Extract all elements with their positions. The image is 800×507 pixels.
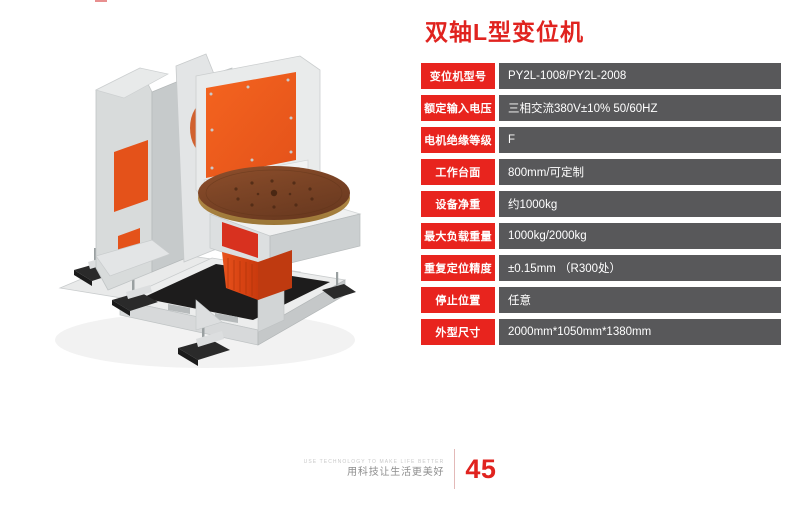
footer-inner: USE TECHNOLOGY TO MAKE LIFE BETTER 用科技让生…	[304, 449, 497, 489]
spec-value: 三相交流380V±10% 50/60HZ	[499, 95, 781, 121]
spec-label: 变位机型号	[421, 63, 495, 89]
table-row: 设备净重 约1000kg	[421, 191, 781, 217]
product-image	[0, 0, 415, 450]
tower-orange-panel-upper	[114, 140, 148, 212]
spec-value: 2000mm*1050mm*1380mm	[499, 319, 781, 345]
catalog-page: 双轴L型变位机 变位机型号 PY2L-1008/PY2L-2008 额定输入电压…	[0, 0, 800, 507]
spec-label: 设备净重	[421, 191, 495, 217]
spec-label: 电机绝缘等级	[421, 127, 495, 153]
table-row: 变位机型号 PY2L-1008/PY2L-2008	[421, 63, 781, 89]
page-title: 双轴L型变位机	[425, 20, 781, 45]
spec-value: PY2L-1008/PY2L-2008	[499, 63, 781, 89]
spec-value: F	[499, 127, 781, 153]
spec-value: 800mm/可定制	[499, 159, 781, 185]
spec-label: 外型尺寸	[421, 319, 495, 345]
head-orange-panel	[206, 72, 296, 178]
spec-label: 额定输入电压	[421, 95, 495, 121]
page-footer: USE TECHNOLOGY TO MAKE LIFE BETTER 用科技让生…	[0, 445, 800, 493]
table-row: 停止位置 任意	[421, 287, 781, 313]
spec-label: 工作台面	[421, 159, 495, 185]
spec-panel: 双轴L型变位机 变位机型号 PY2L-1008/PY2L-2008 额定输入电压…	[421, 20, 781, 345]
spec-label: 最大负载重量	[421, 223, 495, 249]
spec-value: ±0.15mm （R300处）	[499, 255, 781, 281]
page-number: 45	[465, 456, 496, 483]
table-row: 重复定位精度 ±0.15mm （R300处）	[421, 255, 781, 281]
spec-label: 停止位置	[421, 287, 495, 313]
table-row: 电机绝缘等级 F	[421, 127, 781, 153]
turntable-center-hole	[271, 190, 277, 196]
footer-tagline-english: USE TECHNOLOGY TO MAKE LIFE BETTER	[304, 459, 445, 465]
spec-value: 任意	[499, 287, 781, 313]
spec-label: 重复定位精度	[421, 255, 495, 281]
spec-value: 约1000kg	[499, 191, 781, 217]
table-row: 工作台面 800mm/可定制	[421, 159, 781, 185]
table-row: 外型尺寸 2000mm*1050mm*1380mm	[421, 319, 781, 345]
table-row: 最大负载重量 1000kg/2000kg	[421, 223, 781, 249]
footer-divider	[454, 449, 455, 489]
spec-value: 1000kg/2000kg	[499, 223, 781, 249]
table-row: 额定输入电压 三相交流380V±10% 50/60HZ	[421, 95, 781, 121]
spec-table: 变位机型号 PY2L-1008/PY2L-2008 额定输入电压 三相交流380…	[421, 63, 781, 345]
footer-taglines: USE TECHNOLOGY TO MAKE LIFE BETTER 用科技让生…	[304, 459, 445, 480]
footer-tagline-chinese: 用科技让生活更美好	[347, 467, 444, 480]
